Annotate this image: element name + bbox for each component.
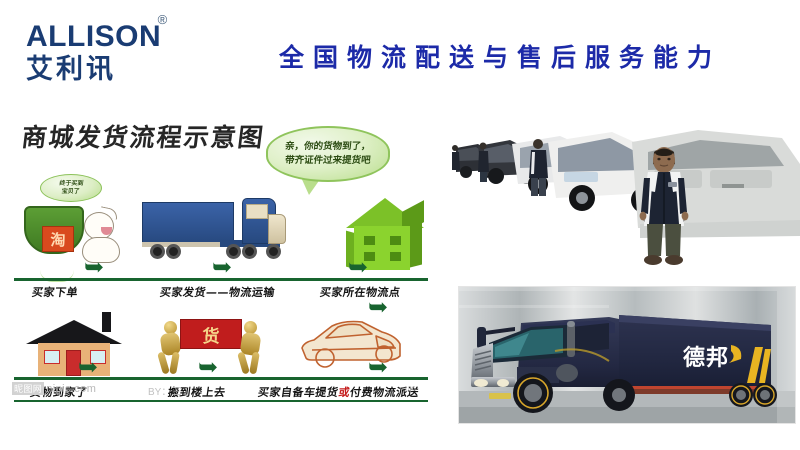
truck-hood [268,214,286,244]
deppon-logistics-truck-photo: 德邦 [458,286,796,424]
buyer-order-illustration: 终于买到宝贝了 淘 [18,174,130,276]
flow-arrow-icon: ➥ [212,256,232,280]
truck-brand-text: 德邦 [683,345,729,371]
flow-bottom-rail-line [14,400,428,402]
character-mouth [101,227,112,235]
house-window [390,252,401,261]
flow-step-label-pickup-option: 买家自备车提货或付费物流派送 [257,384,420,400]
mini-bubble-line-1: 终于买到 [59,180,84,187]
buyer-mini-speech-bubble: 终于买到宝贝了 [40,174,102,202]
watermark-badge: 昵图网 [12,382,44,395]
shopping-basket-icon: 淘 [24,206,84,254]
flow-arrow-icon: ➥ [78,356,98,380]
registered-trademark-icon: ® [158,12,168,27]
page-title: 全国物流配送与售后服务能力 [240,38,760,74]
service-vehicle-fleet-photo [452,108,800,270]
watermark-corner-number: 186 [404,386,416,393]
mover-leg [237,351,250,374]
truck-wheel [166,244,181,259]
truck-wheel [150,244,165,259]
house-window [390,236,401,245]
logo-wordmark: ALLISON [26,20,161,53]
character-head [84,212,114,240]
logo-chinese-name: 艾利讯 [26,56,206,83]
mover-figure [238,321,264,375]
flow-arrow-icon: ➥ [198,356,218,380]
house-right-wall [410,221,422,268]
pickup-option-prefix: 买家自备车提货 [257,386,339,399]
mini-bubble-line-2: 宝贝了 [61,188,80,195]
truck-window [246,204,268,219]
house-window [364,236,375,245]
flow-arrow-icon: ➥ [348,256,368,280]
buyer-home-house-icon [26,312,122,376]
truck-trailer [142,202,234,244]
mini-bubble-text: 终于买到宝贝了 [58,180,84,196]
watermark-text: nipic.com [46,383,96,395]
flow-step-label-order: 买家下单 [31,284,79,300]
speech-bubble-line-1: 亲，你的货物到了， [285,140,372,154]
flow-step-label-station: 买家所在物流点 [319,284,402,300]
watermark-nipic: 昵图网nipic.com [12,382,96,395]
truck-wheel [266,244,281,259]
fleet-photo-svg [452,108,800,270]
logistics-notice-speech-bubble: 亲，你的货物到了， 带齐证件过来提货吧 [266,126,390,182]
page-header: ALLISON ® 艾利讯 全国物流配送与售后服务能力 [0,0,800,100]
flow-arrow-icon: ➥ [368,356,388,380]
watermark-author: BY：三 [148,383,181,398]
company-logo: ALLISON ® 艾利讯 [26,22,206,84]
shipping-flow-diagram: 商城发货流程示意图 亲，你的货物到了， 带齐证件过来提货吧 终于买到宝贝了 淘 [0,100,440,420]
house-roof [26,320,122,344]
flow-step-label-transport: 买家发货——物流运输 [159,284,276,300]
flow-arrow-icon: ➥ [84,256,104,280]
flow-diagram-title: 商城发货流程示意图 [20,118,267,154]
speech-bubble-line-2: 带齐证件过来提货吧 [285,154,372,168]
truck-wheel [242,244,257,259]
flow-rail-line [14,377,428,380]
house-window [44,350,60,364]
flow-arrow-icon: ➥ [368,296,388,320]
buyer-pickup-car-icon [292,314,408,376]
basket-package-label: 淘 [42,226,74,252]
car-sketch-svg [292,314,408,376]
truck-photo-svg: 德邦 [459,287,796,424]
cargo-box-label: 货 [180,319,242,349]
